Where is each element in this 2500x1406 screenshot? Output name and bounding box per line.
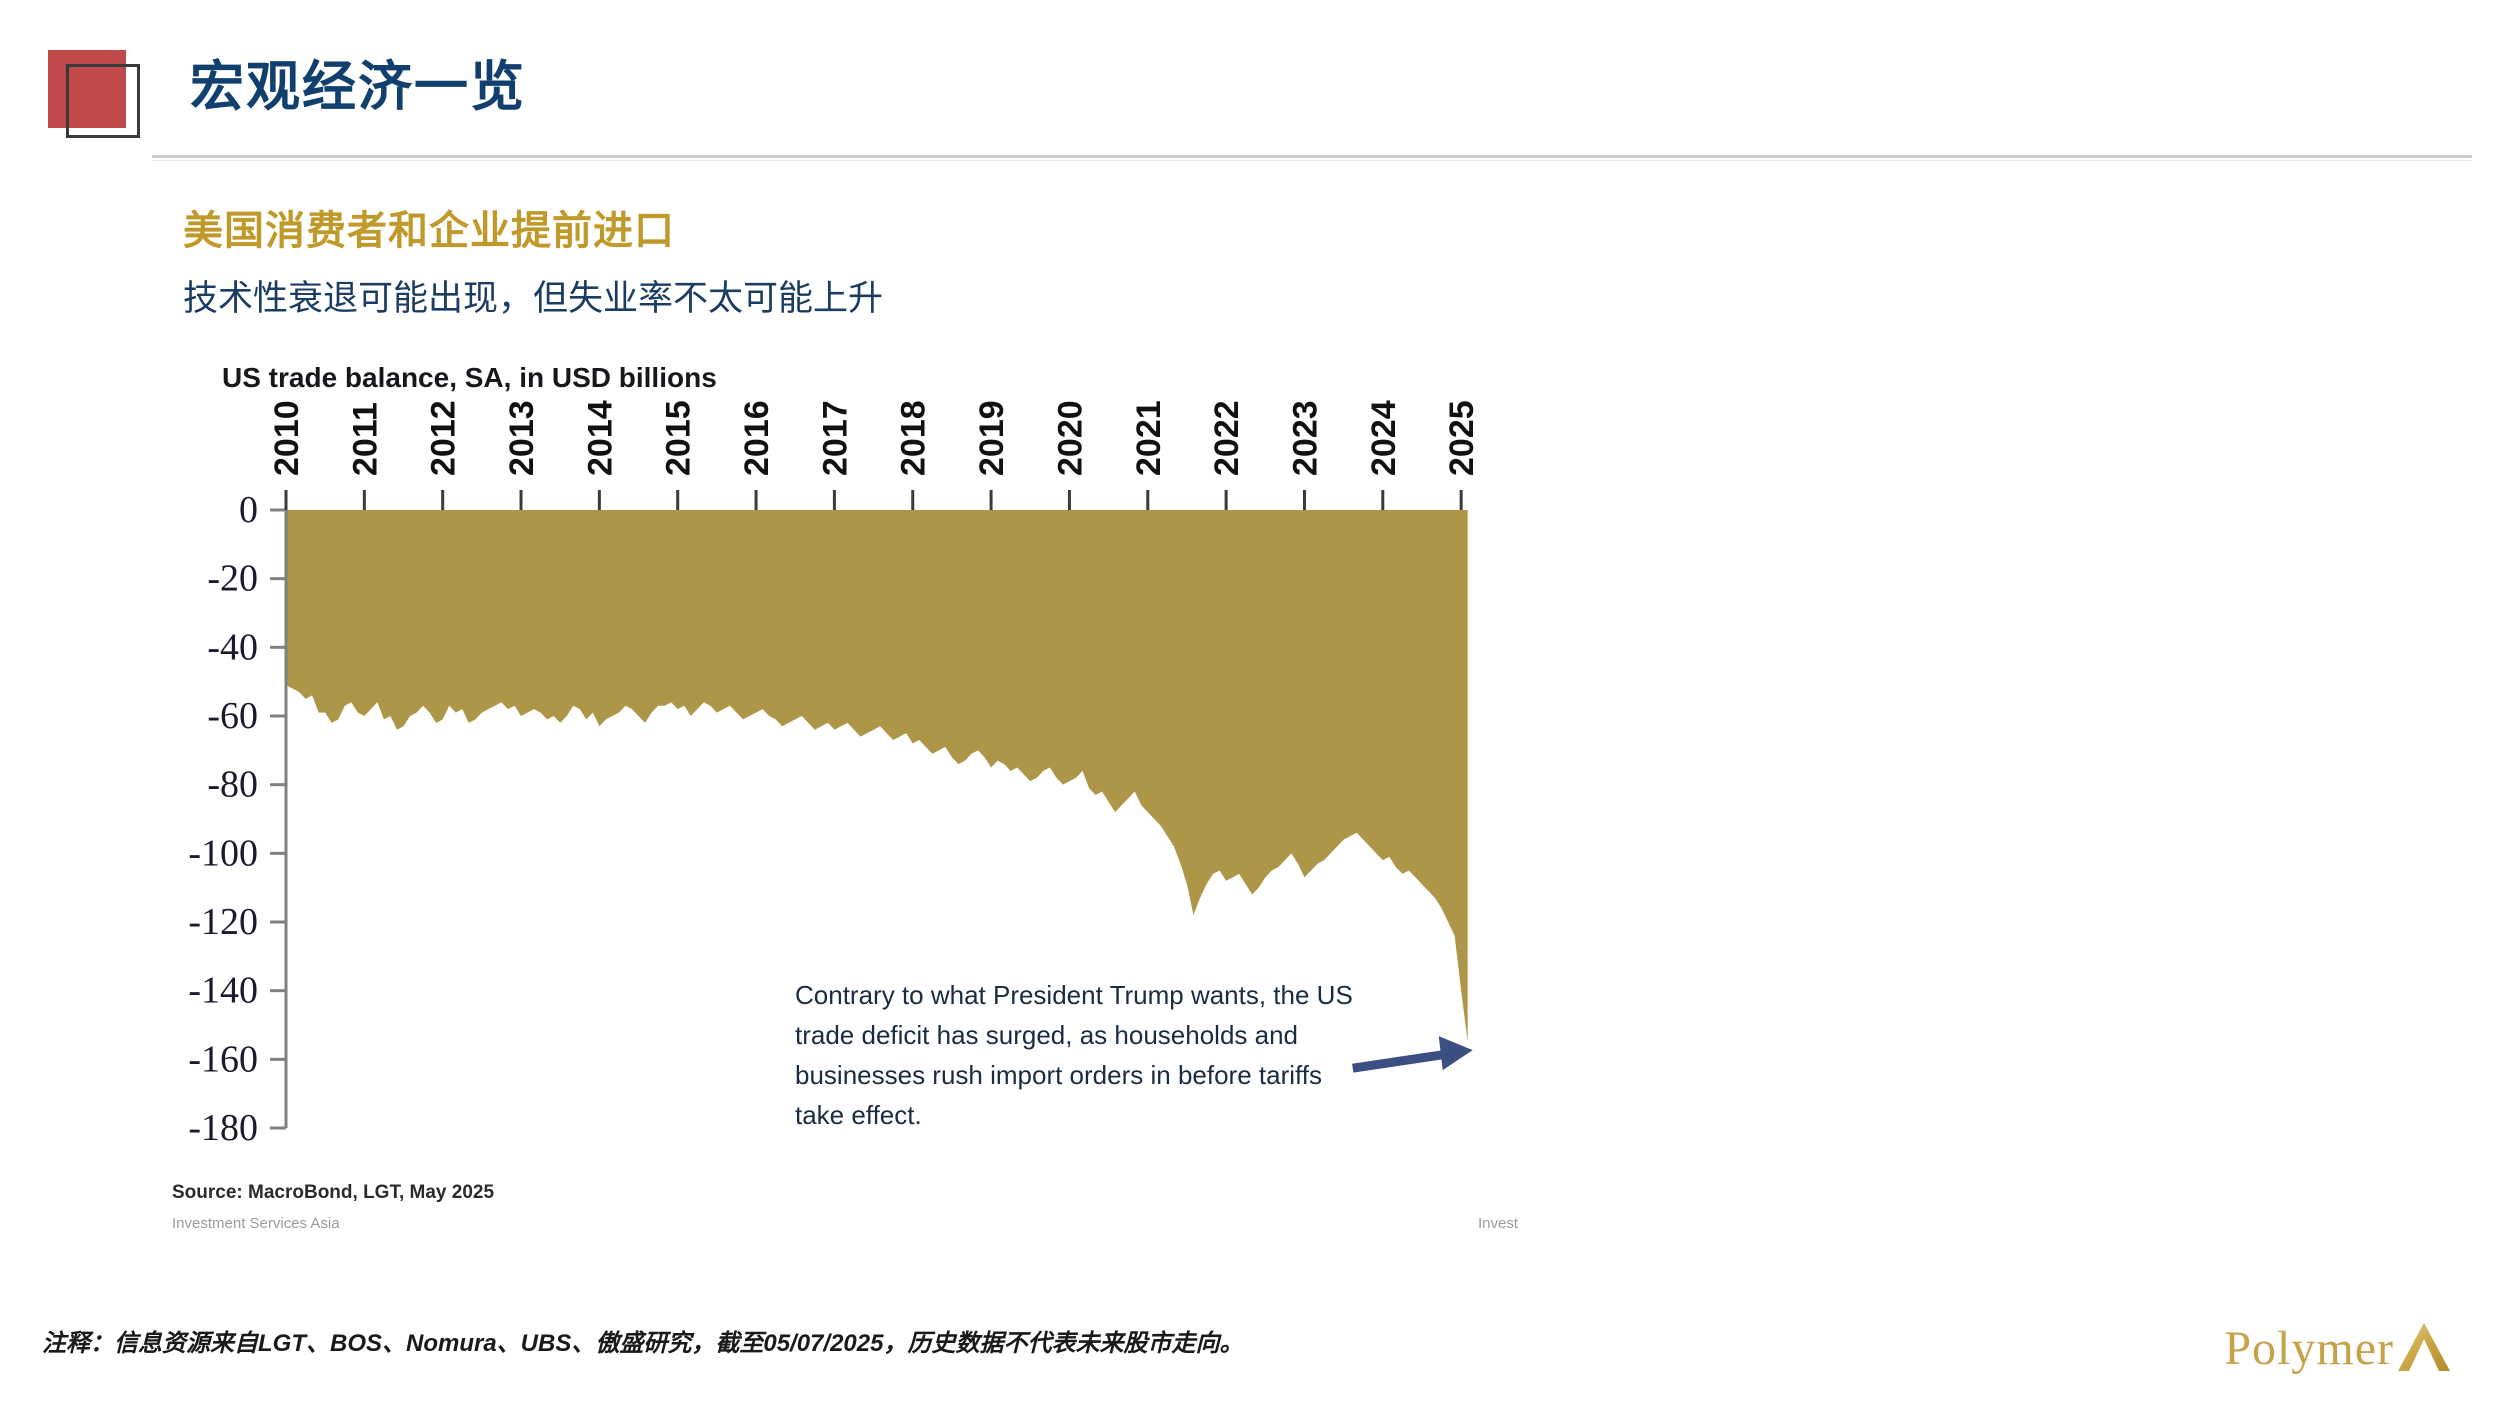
x-axis-tick-label: 2013 [503, 400, 541, 476]
y-axis-tick-label: -160 [188, 1038, 258, 1080]
chart-footer-right-label: Invest [1478, 1215, 1518, 1232]
y-axis-tick-label: 0 [239, 489, 258, 531]
x-axis-tick-label: 2011 [346, 402, 384, 476]
x-axis-tick-label: 2021 [1130, 400, 1168, 476]
x-axis-tick-label: 2017 [816, 400, 854, 476]
x-axis-tick-label: 2014 [581, 400, 619, 476]
chart-footer-left-label: Investment Services Asia [172, 1215, 340, 1232]
x-axis-tick-label: 2015 [660, 400, 698, 476]
y-axis-tick-label: -80 [207, 764, 258, 806]
x-axis-tick-label: 2018 [895, 400, 933, 476]
x-axis-tick-label: 2025 [1443, 400, 1481, 476]
y-axis-tick-label: -100 [188, 832, 258, 874]
footnote-text: 注释：信息资源来自LGT、BOS、Nomura、UBS、傲盛研究，截至05/07… [42, 1323, 1243, 1358]
area-series [286, 510, 1468, 1042]
y-axis-tick-label: -180 [188, 1107, 258, 1149]
x-axis-tick-label: 2016 [738, 400, 776, 476]
y-axis-tick-label: -140 [188, 970, 258, 1012]
x-axis-tick-label: 2010 [268, 400, 306, 476]
brand-chevron-icon [2396, 1321, 2452, 1377]
x-axis-tick-label: 2020 [1051, 400, 1089, 476]
x-axis-tick-label: 2022 [1208, 400, 1246, 476]
polymer-brand-logo: Polymer [2224, 1318, 2452, 1380]
brand-wordmark: Polymer [2224, 1325, 2394, 1373]
chart-container: US trade balance, SA, in USD billions 0-… [0, 0, 2500, 1406]
x-axis-tick-label: 2023 [1286, 400, 1324, 476]
y-axis-tick-label: -40 [207, 626, 258, 668]
y-axis-tick-label: -60 [207, 695, 258, 737]
x-axis-tick-label: 2019 [973, 400, 1011, 476]
y-axis-tick-label: -20 [207, 558, 258, 600]
chart-source-label: Source: MacroBond, LGT, May 2025 [172, 1182, 494, 1204]
y-axis-tick-label: -120 [188, 901, 258, 943]
x-axis-tick-label: 2024 [1365, 400, 1403, 476]
x-axis-tick-label: 2012 [425, 400, 463, 476]
chart-annotation-text: Contrary to what President Trump wants, … [795, 975, 1375, 1135]
